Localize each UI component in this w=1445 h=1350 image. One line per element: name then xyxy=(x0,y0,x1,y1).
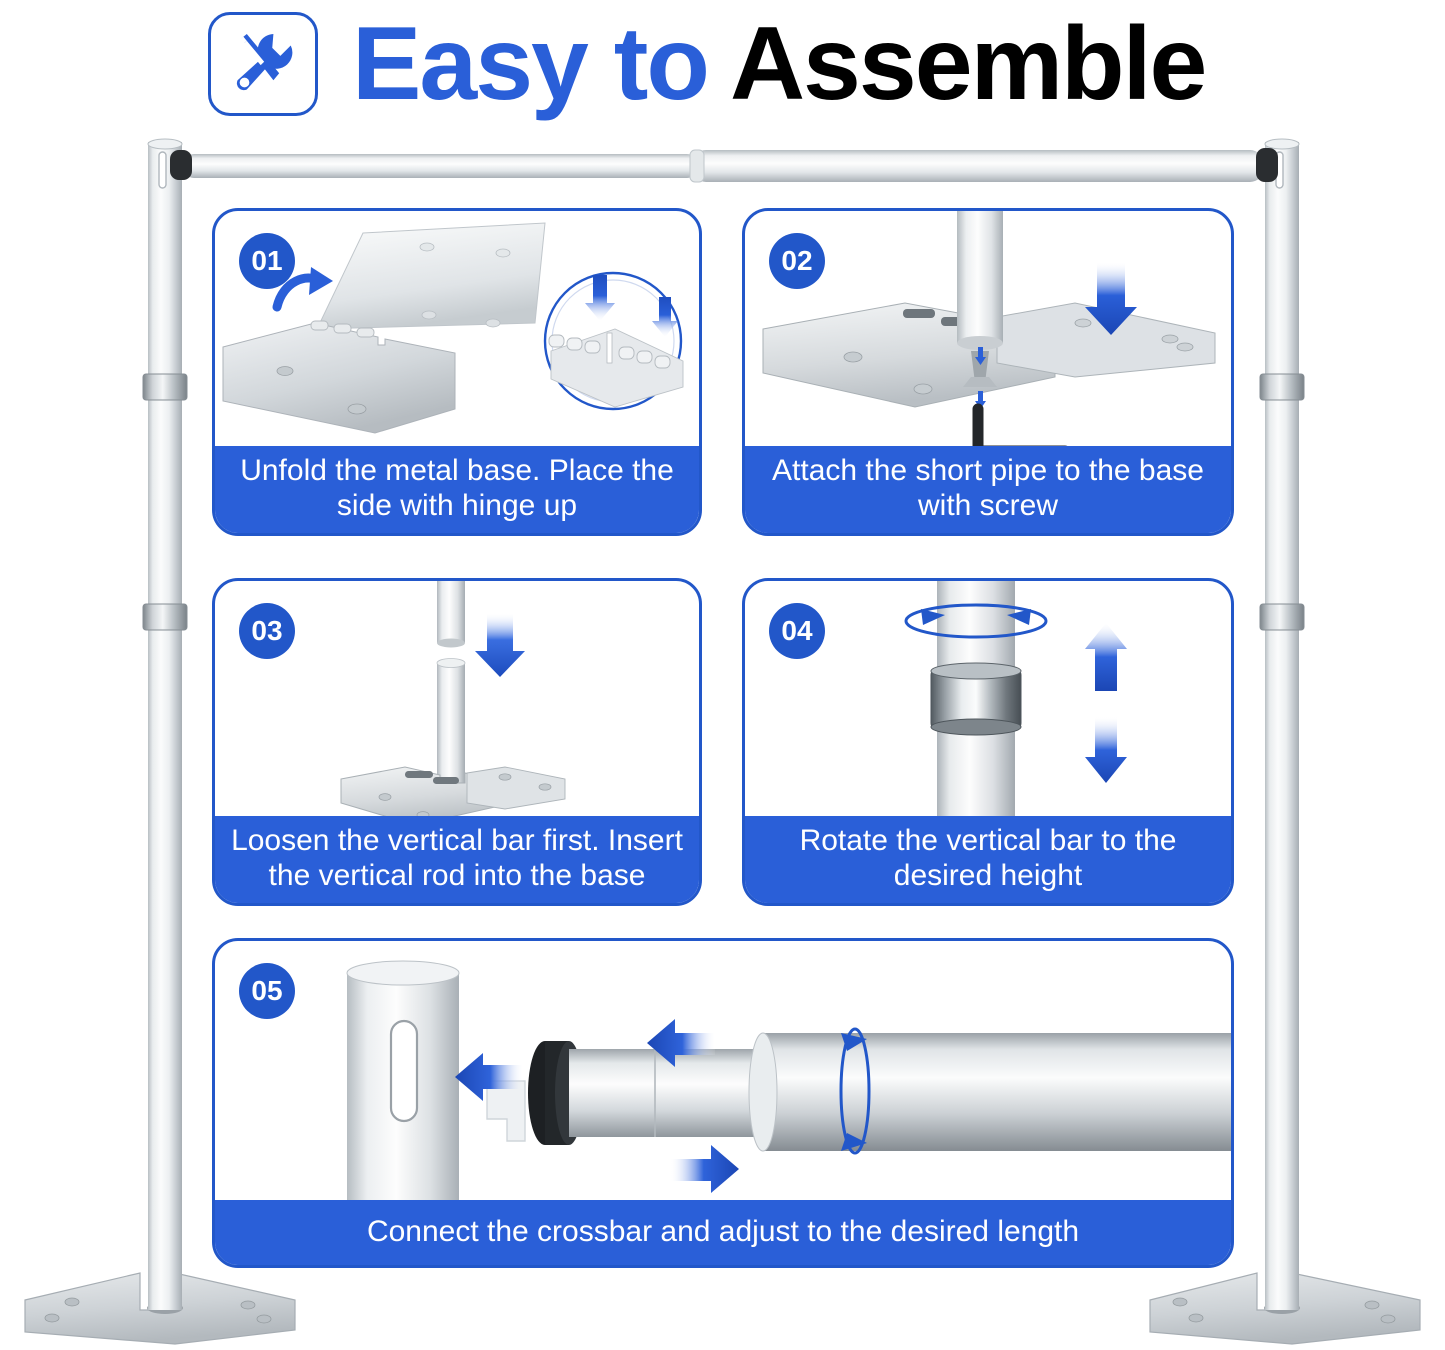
step-panel-03: 03 Loosen the vertical bar first. Insert… xyxy=(212,578,702,906)
step-panel-01: 01 Unfold the metal base. Place the side… xyxy=(212,208,702,536)
tools-wrench-screwdriver-icon xyxy=(208,12,318,116)
title-blue-text: Easy to xyxy=(352,5,708,124)
step-number-01: 01 xyxy=(239,233,295,289)
step-number-02: 02 xyxy=(769,233,825,289)
header: Easy to Assemble xyxy=(0,0,1445,128)
step-panel-05: 05 Connect the crossbar and adjust to th… xyxy=(212,938,1234,1268)
step-caption-03: Loosen the vertical bar first. Insert th… xyxy=(214,816,700,904)
title-black-text: Assemble xyxy=(708,5,1205,124)
step-panel-04: 04 Rotate the vertical bar to the desire… xyxy=(742,578,1234,906)
page-title: Easy to Assemble xyxy=(352,4,1205,124)
step-caption-05: Connect the crossbar and adjust to the d… xyxy=(214,1200,1232,1266)
step-number-04: 04 xyxy=(769,603,825,659)
step-number-03: 03 xyxy=(239,603,295,659)
step-number-05: 05 xyxy=(239,963,295,1019)
step-caption-04: Rotate the vertical bar to the desired h… xyxy=(744,816,1232,904)
step-panel-02: 02 Attach the short pipe to the base wit… xyxy=(742,208,1234,536)
step-caption-01: Unfold the metal base. Place the side wi… xyxy=(214,446,700,534)
step-caption-02: Attach the short pipe to the base with s… xyxy=(744,446,1232,534)
